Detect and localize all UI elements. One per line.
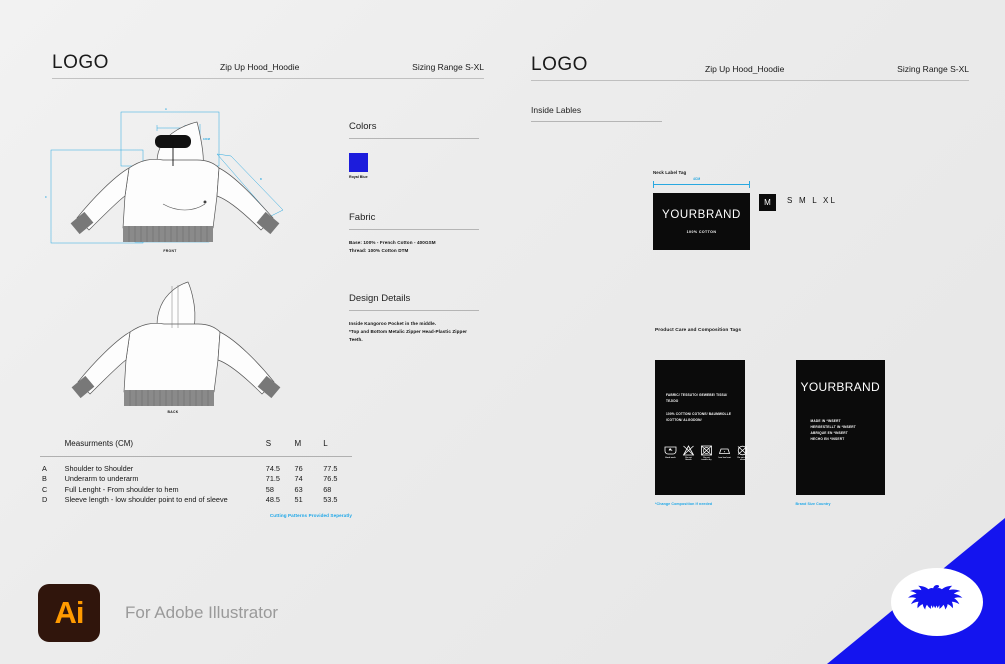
row-label: Sleeve length - low shoulder point to en… [65, 495, 266, 506]
neck-label-dimension-line: 4CM [653, 179, 750, 188]
row-value-m: 76 [295, 456, 324, 474]
color-swatch-label: Royal Blue [349, 175, 479, 179]
measurements-heading: Measurments (CM) [65, 438, 266, 456]
design-details-body: Inside Kangoroo Pocket in the middle. *T… [349, 320, 479, 343]
do-not-dry-clean-icon [736, 445, 749, 456]
table-header-row: Measurments (CM) S M L [40, 438, 352, 456]
right-header-title: Zip Up Hood_Hoodie [705, 64, 784, 74]
do-not-tumble-dry-icon [700, 445, 713, 456]
row-value-s: 48.5 [266, 495, 295, 506]
left-header-sizing: Sizing Range S-XL [412, 62, 484, 72]
header-size-s: S [266, 438, 295, 456]
footer: Ai For Adobe Illustrator [38, 584, 278, 642]
row-label: Full Lenght - From shoulder to hem [65, 485, 266, 496]
left-header-title: Zip Up Hood_Hoodie [220, 62, 299, 72]
neck-tag-brand: YOURBRAND [662, 209, 741, 221]
selected-size-box[interactable]: M [759, 194, 776, 211]
header-key [40, 438, 65, 456]
symbol-label: Hand wash [664, 457, 677, 459]
header-size-l: L [323, 438, 352, 456]
origin-tag-brand: YOURBRAND [796, 380, 886, 394]
table-row: C Full Lenght - From shoulder to hem 58 … [40, 485, 352, 496]
svg-text:A: A [165, 107, 167, 111]
symbol-label: Do not dry clean [736, 457, 749, 461]
inside-labels-heading: Inside Lables [531, 105, 662, 115]
svg-text:D: D [260, 177, 262, 181]
symbol-label: Do not bleach [682, 457, 695, 461]
row-value-l: 76.5 [323, 474, 352, 485]
fabric-line-2: Thread: 100% Cotton DTM [349, 247, 479, 255]
care-tags-caption: Product Care and Composition Tags [655, 328, 885, 333]
color-swatch-royal-blue[interactable] [349, 153, 368, 172]
front-view-caption: FRONT [150, 249, 190, 253]
design-details-heading: Design Details [349, 293, 479, 304]
left-sheet-header: LOGO Zip Up Hood_Hoodie Sizing Range S-X… [52, 52, 484, 74]
row-value-s: 71.5 [266, 474, 295, 485]
row-key: B [40, 474, 65, 485]
inside-labels-section: Inside Lables [531, 105, 662, 122]
colors-section: Colors Royal Blue [349, 121, 479, 179]
iron-low-symbol: Iron low heat [718, 445, 731, 462]
cutting-patterns-note: Cutting Patterns Provided Seperatly [40, 513, 352, 518]
fabric-line-1: Base: 100% - French Cotton - 400GSM [349, 239, 479, 247]
table-row: A Shoulder to Shoulder 74.5 76 77.5 [40, 456, 352, 474]
neck-label-row: YOURBRAND 100% COTTON M S M L XL [653, 193, 837, 250]
footer-text: For Adobe Illustrator [125, 603, 278, 623]
do-not-dry-clean-symbol: Do not dry clean [736, 445, 749, 462]
care-tag-composition: 100% COTTON/ COTONE/ BAUMWOLLE /COTTON/ … [666, 412, 737, 424]
brand-corner [827, 518, 1005, 664]
origin-tag-note: Brand Size Country [796, 502, 886, 506]
dimension-value: 4CM [693, 177, 700, 181]
row-value-m: 51 [295, 495, 324, 506]
row-value-l: 68 [323, 485, 352, 496]
table-row: B Underarm to underarm 71.5 74 76.5 [40, 474, 352, 485]
right-logo: LOGO [531, 54, 588, 76]
row-value-s: 74.5 [266, 456, 295, 474]
origin-tag-lines: MADE IN *INSERT HERGESTELLT IN *INSERT A… [811, 418, 856, 442]
fabric-heading: Fabric [349, 212, 479, 223]
care-tag-text: FABRIC/ TESSUTO/ GEWEBE/ TISSU/ TEJIDO 1… [666, 393, 737, 424]
design-details-section: Design Details Inside Kangoroo Pocket in… [349, 293, 479, 343]
iron-low-icon [718, 445, 731, 456]
care-tags-row: FABRIC/ TESSUTO/ GEWEBE/ TISSU/ TEJIDO 1… [655, 360, 885, 495]
neck-label-tag: YOURBRAND 100% COTTON [653, 193, 750, 250]
eagle-icon [901, 580, 973, 624]
care-tag-fabric-heading: FABRIC/ TESSUTO/ GEWEBE/ TISSU/ TEJIDO [666, 393, 737, 405]
row-key: D [40, 495, 65, 506]
fabric-body: Base: 100% - French Cotton - 400GSM Thre… [349, 239, 479, 255]
do-not-tumble-dry-symbol: Do not tumble dry [700, 445, 713, 462]
fabric-section: Fabric Base: 100% - French Cotton - 400G… [349, 212, 479, 255]
row-label: Shoulder to Shoulder [65, 456, 266, 474]
right-sheet-header: LOGO Zip Up Hood_Hoodie Sizing Range S-X… [531, 54, 969, 76]
back-view-caption: BACK [153, 410, 193, 414]
measurements-table: Measurments (CM) S M L A Shoulder to Sho… [40, 438, 352, 506]
row-value-m: 63 [295, 485, 324, 496]
fabric-divider [349, 229, 479, 230]
front-technical-drawing: A C 16CM 26CM B 17CM 9CM D [45, 100, 335, 260]
svg-text:C: C [45, 195, 47, 199]
symbol-label: Do not tumble dry [700, 457, 713, 461]
dimension-cap-left [653, 181, 654, 188]
origin-line-4: HECHO EN *INSERT [811, 436, 856, 442]
neck-tag-composition: 100% COTTON [687, 230, 717, 234]
colors-heading: Colors [349, 121, 479, 132]
do-not-bleach-icon [682, 445, 695, 456]
dimension-cap-right [749, 181, 750, 188]
template-page: LOGO Zip Up Hood_Hoodie Sizing Range S-X… [0, 0, 1005, 664]
row-value-l: 77.5 [323, 456, 352, 474]
neck-label-caption: Neck Label Tag [653, 170, 837, 175]
ai-badge-label: Ai [55, 595, 84, 631]
back-technical-drawing [58, 278, 308, 418]
left-header-divider [52, 78, 484, 79]
do-not-bleach-symbol: Do not bleach [682, 445, 695, 462]
table-row: D Sleeve length - low shoulder point to … [40, 495, 352, 506]
row-key: A [40, 456, 65, 474]
design-details-line-2: *Top and Bottom Metalic Zipper Head-Plas… [349, 328, 479, 344]
symbol-label: Iron low heat [718, 457, 731, 459]
colors-divider [349, 138, 479, 139]
composition-tag-note: *Change Composition If needed [655, 502, 745, 506]
care-tags-notes: *Change Composition If needed Brand Size… [655, 502, 885, 506]
neck-label-block: Neck Label Tag 4CM YOURBRAND 100% COTTON… [653, 170, 837, 250]
care-symbols-row: Hand wash Do not bleach [664, 445, 749, 462]
row-value-l: 53.5 [323, 495, 352, 506]
right-header-divider [531, 80, 969, 81]
row-key: C [40, 485, 65, 496]
brand-origin-tag: YOURBRAND MADE IN *INSERT HERGESTELLT IN… [796, 360, 886, 495]
row-value-m: 74 [295, 474, 324, 485]
header-size-m: M [295, 438, 324, 456]
left-logo: LOGO [52, 52, 109, 74]
row-value-s: 58 [266, 485, 295, 496]
right-header-sizing: Sizing Range S-XL [897, 64, 969, 74]
svg-text:16CM: 16CM [203, 137, 210, 141]
row-label: Underarm to underarm [65, 474, 266, 485]
hand-wash-symbol: Hand wash [664, 445, 677, 462]
measurements-table-wrapper: Measurments (CM) S M L A Shoulder to Sho… [40, 438, 352, 518]
inside-labels-divider [531, 121, 662, 122]
design-details-divider [349, 310, 479, 311]
dimension-bar [653, 184, 750, 185]
care-tags-block: Product Care and Composition Tags FABRIC… [655, 328, 885, 506]
design-details-line-1: Inside Kangoroo Pocket in the middle. [349, 320, 479, 328]
size-options-list[interactable]: S M L XL [787, 196, 837, 205]
composition-care-tag: FABRIC/ TESSUTO/ GEWEBE/ TISSU/ TEJIDO 1… [655, 360, 745, 495]
hand-wash-icon [664, 445, 677, 456]
adobe-illustrator-icon: Ai [38, 584, 100, 642]
